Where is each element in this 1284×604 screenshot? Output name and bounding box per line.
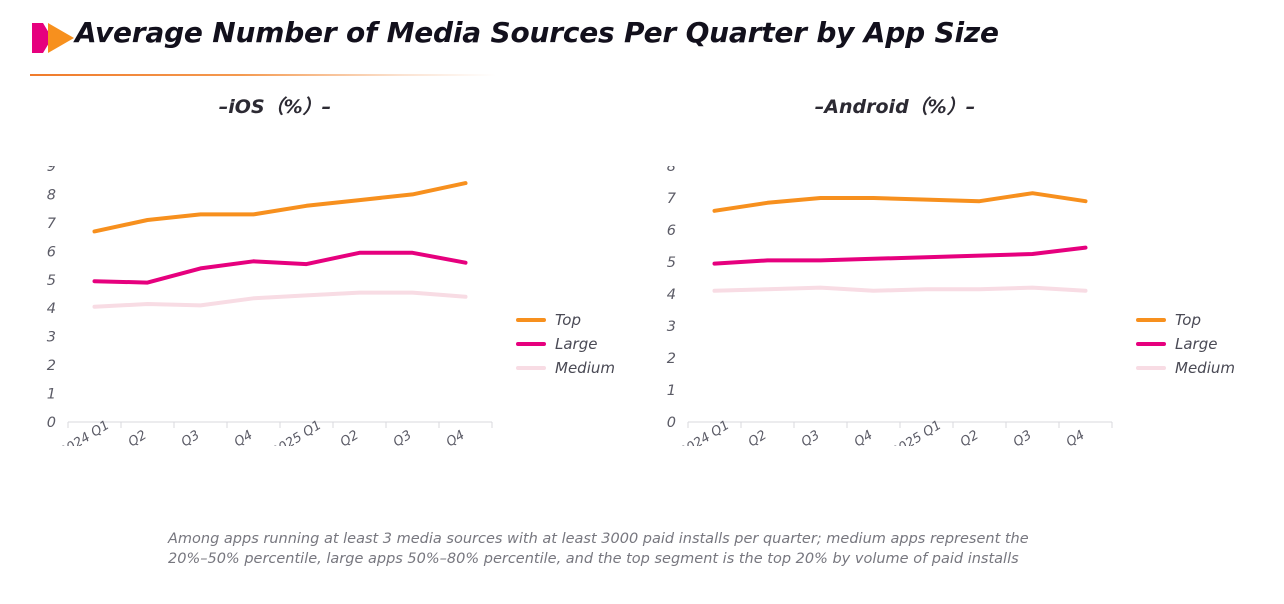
y-axis-tick-label: 6 bbox=[47, 244, 56, 260]
legend-swatch-top bbox=[516, 318, 546, 322]
legend-swatch-large bbox=[1136, 342, 1166, 346]
x-axis-tick-label: Q4 bbox=[852, 428, 876, 446]
series-line-top bbox=[715, 193, 1086, 211]
page-title: Average Number of Media Sources Per Quar… bbox=[75, 16, 999, 49]
x-axis-tick-label: Q3 bbox=[179, 428, 203, 446]
legend-swatch-medium bbox=[516, 366, 546, 370]
legend-item-medium[interactable]: Medium bbox=[516, 356, 646, 380]
chart-subtitle-ios: –iOS（%）– bbox=[40, 92, 510, 119]
legend-label-medium: Medium bbox=[1175, 359, 1235, 377]
line-chart-ios: 01234567892024 Q1Q2Q3Q42025 Q1Q2Q3Q4 bbox=[30, 166, 500, 446]
legend-label-top: Top bbox=[555, 311, 581, 329]
y-axis-tick-label: 8 bbox=[667, 166, 676, 175]
y-axis-tick-label: 5 bbox=[47, 273, 56, 289]
y-axis-tick-label: 4 bbox=[47, 301, 56, 317]
y-axis-tick-label: 1 bbox=[47, 387, 56, 403]
chart-legend-ios: Top Large Medium bbox=[516, 308, 646, 380]
chart-footnote: Among apps running at least 3 media sour… bbox=[168, 529, 1108, 569]
page-header: Average Number of Media Sources Per Quar… bbox=[0, 0, 1284, 84]
series-line-medium bbox=[95, 293, 466, 307]
x-axis-tick-label: Q3 bbox=[1011, 428, 1035, 446]
footnote-line-1: Among apps running at least 3 media sour… bbox=[168, 529, 1108, 549]
legend-swatch-medium bbox=[1136, 366, 1166, 370]
y-axis-tick-label: 1 bbox=[667, 383, 676, 399]
y-axis-tick-label: 6 bbox=[667, 223, 676, 239]
legend-swatch-large bbox=[516, 342, 546, 346]
legend-item-medium[interactable]: Medium bbox=[1136, 356, 1266, 380]
series-line-large bbox=[715, 248, 1086, 264]
chart-panel-android: –Android（%）– 0123456782024 Q1Q2Q3Q42025 … bbox=[642, 86, 1282, 506]
x-axis-tick-label: Q2 bbox=[126, 428, 150, 446]
x-axis-tick-label: Q2 bbox=[746, 428, 770, 446]
legend-item-large[interactable]: Large bbox=[1136, 332, 1266, 356]
x-axis-tick-label: Q4 bbox=[1064, 428, 1088, 446]
y-axis-tick-label: 2 bbox=[47, 358, 56, 374]
y-axis-tick-label: 4 bbox=[667, 287, 676, 303]
y-axis-tick-label: 2 bbox=[667, 351, 676, 367]
chart-legend-android: Top Large Medium bbox=[1136, 308, 1266, 380]
legend-item-top[interactable]: Top bbox=[516, 308, 646, 332]
x-axis-tick-label: Q3 bbox=[391, 428, 415, 446]
chart-subtitle-android: –Android（%）– bbox=[660, 92, 1130, 119]
x-axis-tick-label: Q2 bbox=[338, 428, 362, 446]
legend-label-medium: Medium bbox=[555, 359, 615, 377]
x-axis-tick-label: Q4 bbox=[232, 428, 256, 446]
series-line-top bbox=[95, 183, 466, 231]
y-axis-tick-label: 3 bbox=[47, 330, 56, 346]
x-axis-tick-label: Q2 bbox=[958, 428, 982, 446]
y-axis-tick-label: 8 bbox=[47, 187, 56, 203]
footnote-line-2: 20%–50% percentile, large apps 50%–80% p… bbox=[168, 549, 1108, 569]
x-axis-tick-label: Q3 bbox=[799, 428, 823, 446]
y-axis-tick-label: 3 bbox=[667, 319, 676, 335]
legend-label-large: Large bbox=[1175, 335, 1217, 353]
legend-item-top[interactable]: Top bbox=[1136, 308, 1266, 332]
y-axis-tick-label: 7 bbox=[667, 191, 677, 207]
y-axis-tick-label: 7 bbox=[47, 216, 57, 232]
legend-label-top: Top bbox=[1175, 311, 1201, 329]
legend-label-large: Large bbox=[555, 335, 597, 353]
y-axis-tick-label: 0 bbox=[667, 415, 676, 431]
chart-panel-ios: –iOS（%）– 01234567892024 Q1Q2Q3Q42025 Q1Q… bbox=[10, 86, 650, 506]
legend-item-large[interactable]: Large bbox=[516, 332, 646, 356]
series-line-medium bbox=[715, 288, 1086, 291]
appsflyer-triangles-icon bbox=[30, 21, 76, 55]
y-axis-tick-label: 0 bbox=[47, 415, 56, 431]
y-axis-tick-label: 9 bbox=[47, 166, 56, 175]
y-axis-tick-label: 5 bbox=[667, 255, 676, 271]
series-line-large bbox=[95, 253, 466, 283]
x-axis-tick-label: Q4 bbox=[444, 428, 468, 446]
line-chart-android: 0123456782024 Q1Q2Q3Q42025 Q1Q2Q3Q4 bbox=[650, 166, 1120, 446]
legend-swatch-top bbox=[1136, 318, 1166, 322]
title-underline-rule bbox=[30, 74, 496, 76]
